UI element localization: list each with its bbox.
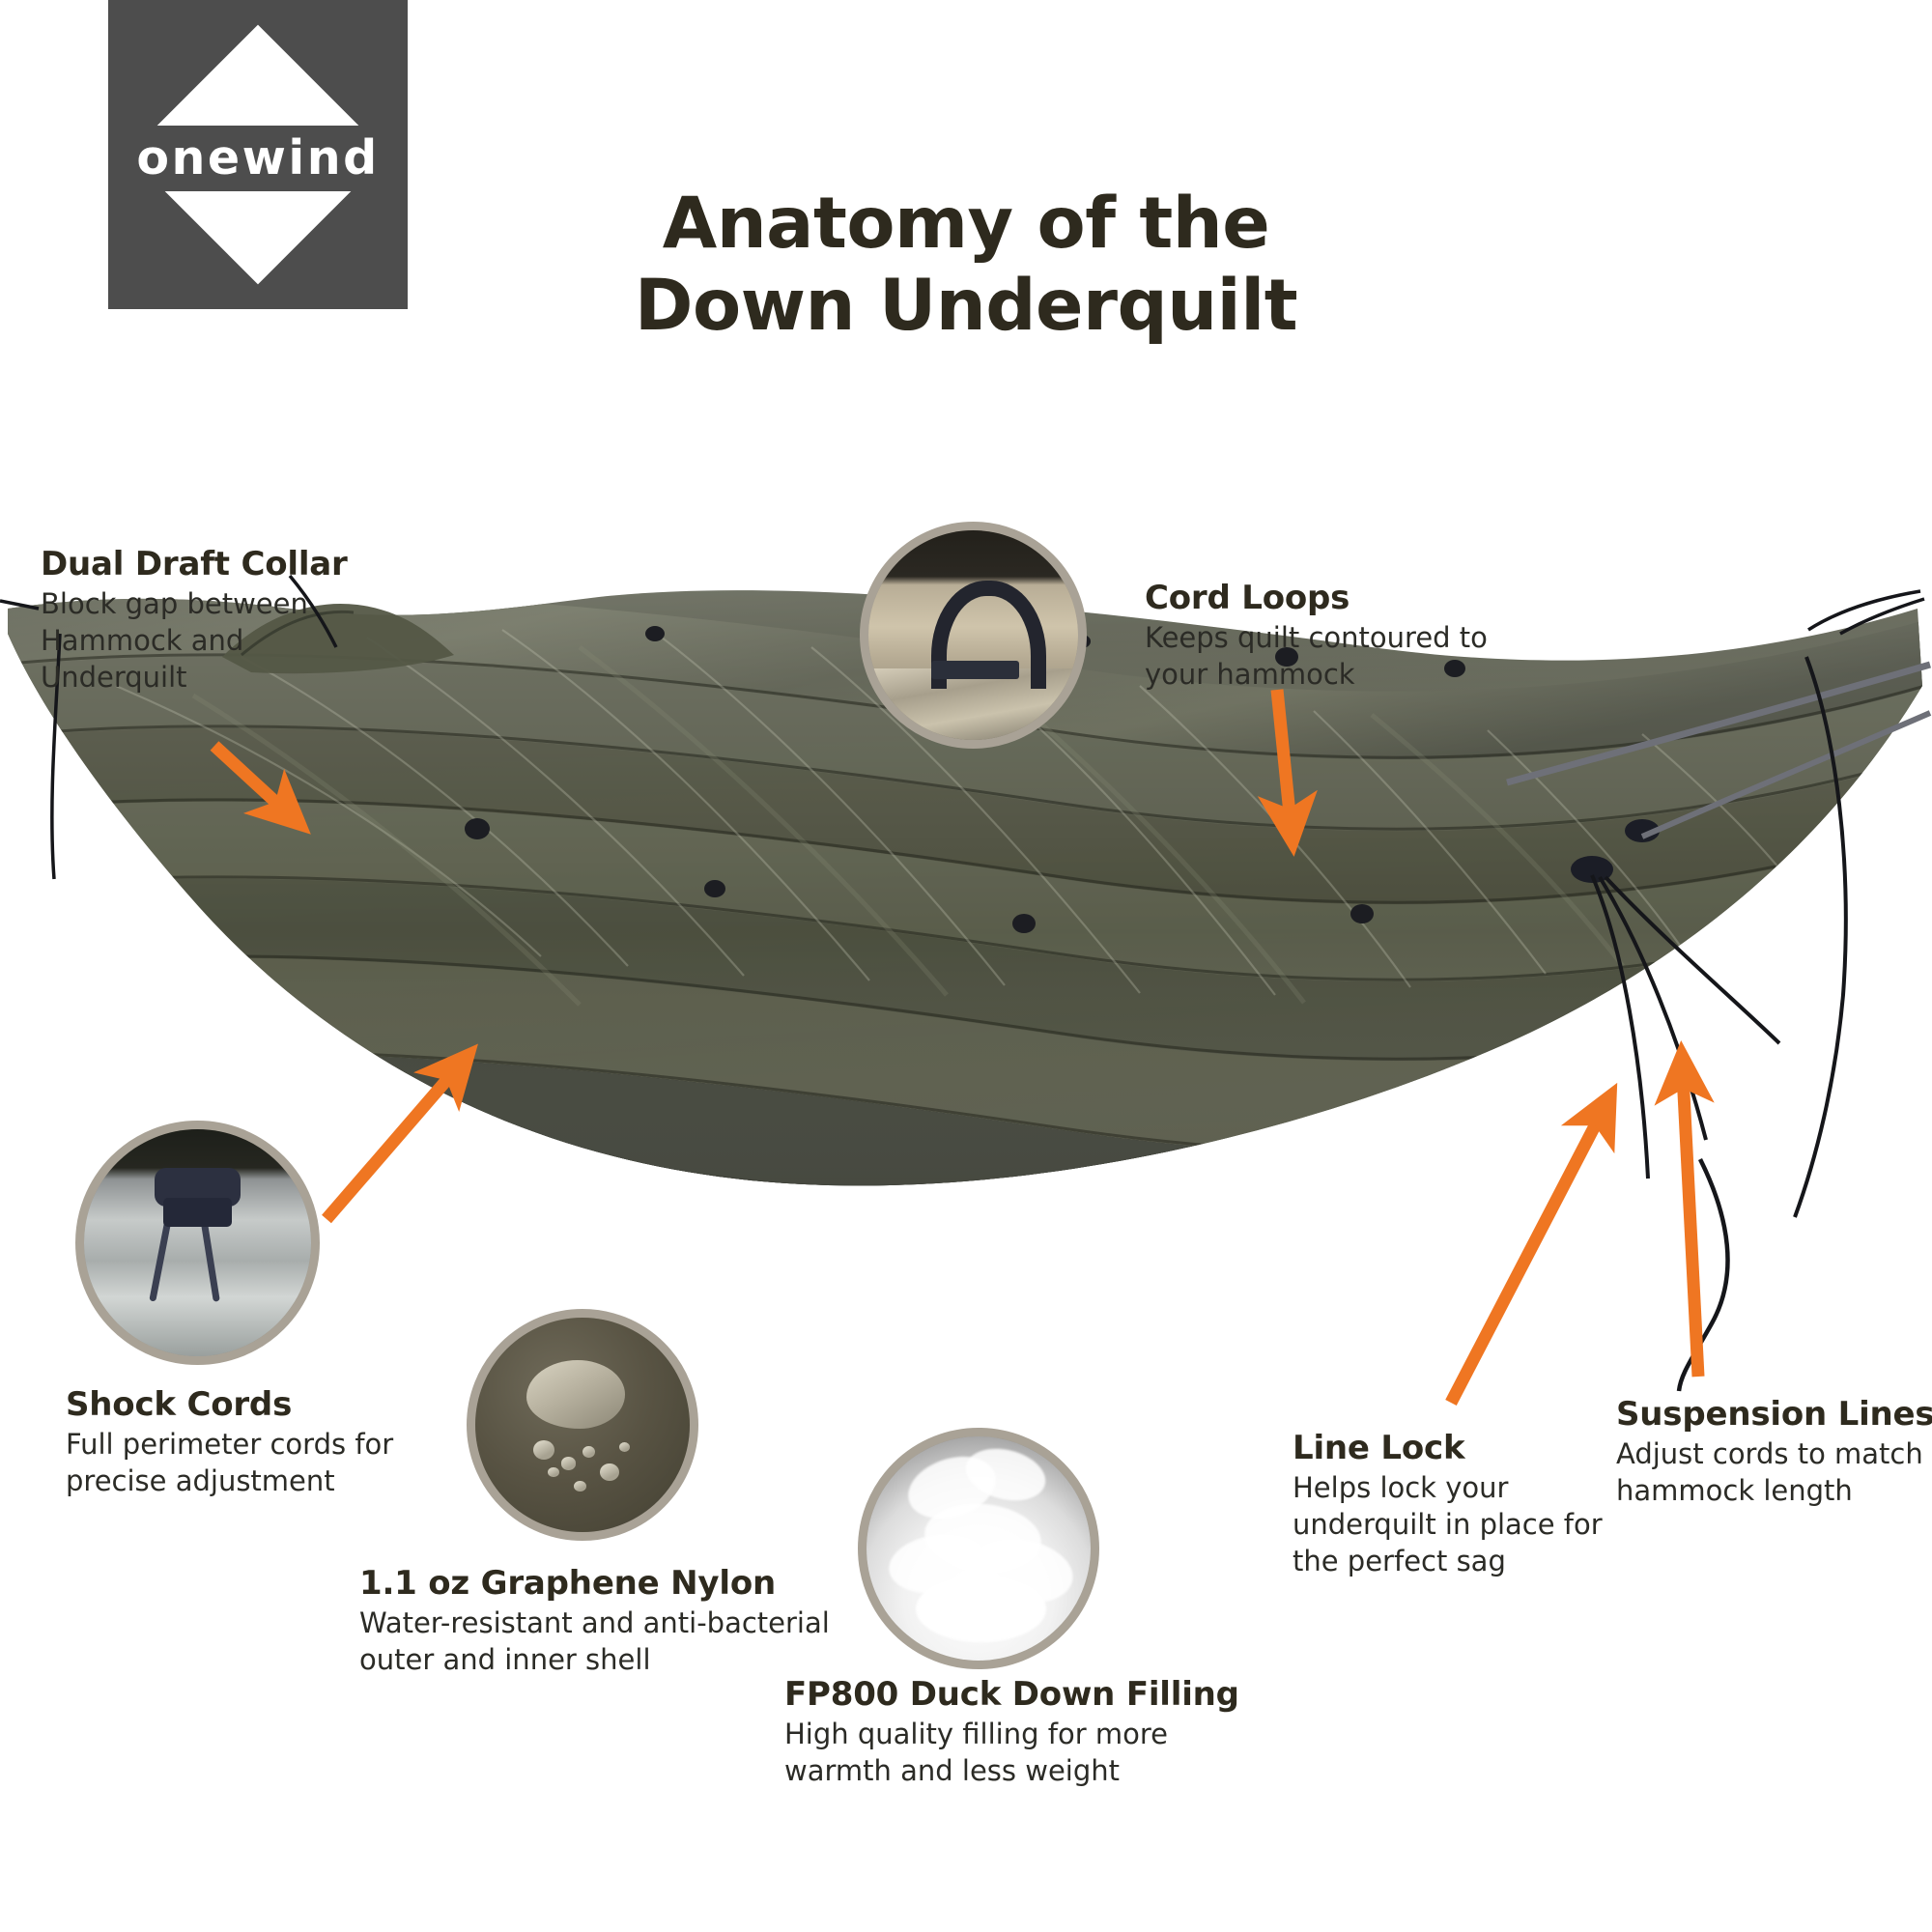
title-line-1: Anatomy of the: [541, 184, 1391, 266]
cord-loop-d-ring-photo: [860, 522, 1087, 749]
callout-heading: Suspension Lines: [1616, 1396, 1932, 1434]
callout-body-line: the perfect sag: [1293, 1544, 1679, 1580]
callout-body-line: Underquilt: [41, 660, 446, 696]
callout-cord-loops: Cord Loops Keeps quilt contoured to your…: [1145, 580, 1560, 694]
callout-body-line: your hammock: [1145, 657, 1560, 694]
duck-down-cluster-photo: [858, 1428, 1099, 1669]
brand-wordmark: onewind: [108, 134, 408, 182]
callout-shock-cords: Shock Cords Full perimeter cords for pre…: [66, 1386, 471, 1500]
callout-heading: 1.1 oz Graphene Nylon: [359, 1565, 862, 1603]
callout-body: Adjust cords to match hammock length: [1616, 1436, 1932, 1509]
brand-logo: onewind: [108, 0, 408, 309]
callout-heading: FP800 Duck Down Filling: [784, 1676, 1287, 1714]
callout-body-line: Full perimeter cords for: [66, 1427, 471, 1463]
callout-graphene-nylon: 1.1 oz Graphene Nylon Water-resistant an…: [359, 1565, 862, 1679]
callout-dual-draft-collar: Dual Draft Collar Block gap between Hamm…: [41, 546, 446, 696]
callout-body-line: Adjust cords to match: [1616, 1436, 1932, 1473]
callout-fp800-duck-down: FP800 Duck Down Filling High quality fil…: [784, 1676, 1287, 1790]
callout-body-line: hammock length: [1616, 1473, 1932, 1510]
callout-heading: Cord Loops: [1145, 580, 1560, 617]
callout-body-line: underquilt in place for: [1293, 1507, 1679, 1544]
callout-body: Full perimeter cords for precise adjustm…: [66, 1427, 471, 1499]
callout-body-line: Keeps quilt contoured to: [1145, 620, 1560, 657]
title-line-2: Down Underquilt: [541, 266, 1391, 348]
water-droplet-icon: [526, 1360, 625, 1429]
callout-suspension-lines: Suspension Lines Adjust cords to match h…: [1616, 1396, 1932, 1510]
callout-body-line: Water-resistant and anti-bacterial: [359, 1605, 862, 1642]
callout-body-line: High quality filling for more: [784, 1717, 1287, 1753]
callout-body: Block gap between Hammock and Underquilt: [41, 586, 446, 696]
shock-cord-lock-photo: [75, 1121, 320, 1365]
callout-body-line: Hammock and: [41, 623, 446, 660]
callout-body: High quality filling for more warmth and…: [784, 1717, 1287, 1789]
callout-body-line: Block gap between: [41, 586, 446, 623]
callout-heading: Dual Draft Collar: [41, 546, 446, 583]
callout-body: Water-resistant and anti-bacterial outer…: [359, 1605, 862, 1678]
callout-body: Keeps quilt contoured to your hammock: [1145, 620, 1560, 693]
water-bead-fabric-photo: [467, 1309, 698, 1541]
page-title: Anatomy of the Down Underquilt: [541, 184, 1391, 347]
callout-body-line: warmth and less weight: [784, 1753, 1287, 1790]
callout-heading: Shock Cords: [66, 1386, 471, 1424]
callout-body-line: precise adjustment: [66, 1463, 471, 1500]
callout-body-line: outer and inner shell: [359, 1642, 862, 1679]
